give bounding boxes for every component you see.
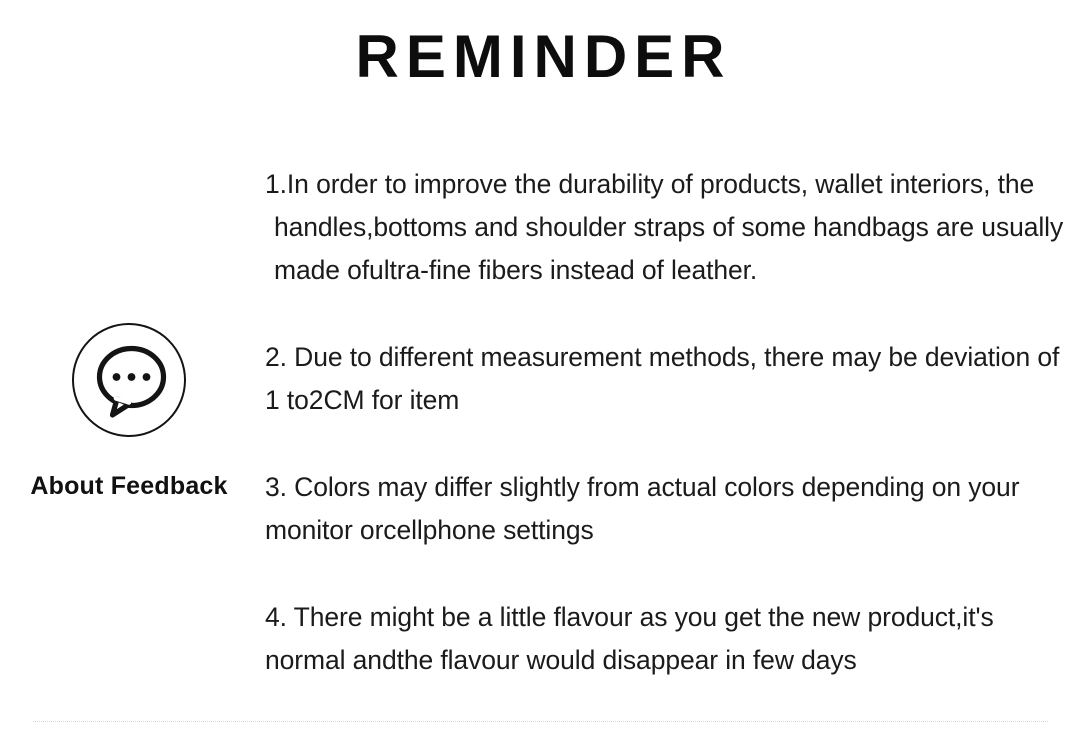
about-feedback-label: About Feedback — [0, 472, 258, 501]
page-title: REMINDER — [0, 24, 1080, 90]
reminder-notes-list: 1.In order to improve the durability of … — [265, 163, 1065, 682]
chat-bubble-icon — [71, 322, 187, 438]
reminder-note-2: 2. Due to different measurement methods,… — [265, 336, 1065, 422]
about-feedback-block: About Feedback — [0, 322, 258, 501]
reminder-note-1: 1.In order to improve the durability of … — [265, 163, 1065, 292]
reminder-note-4: 4. There might be a little flavour as yo… — [265, 596, 1065, 682]
reminder-note-3: 3. Colors may differ slightly from actua… — [265, 466, 1065, 552]
reminder-page: REMINDER About Feedback 1.In order to im… — [0, 0, 1080, 748]
footer-divider — [33, 721, 1048, 722]
